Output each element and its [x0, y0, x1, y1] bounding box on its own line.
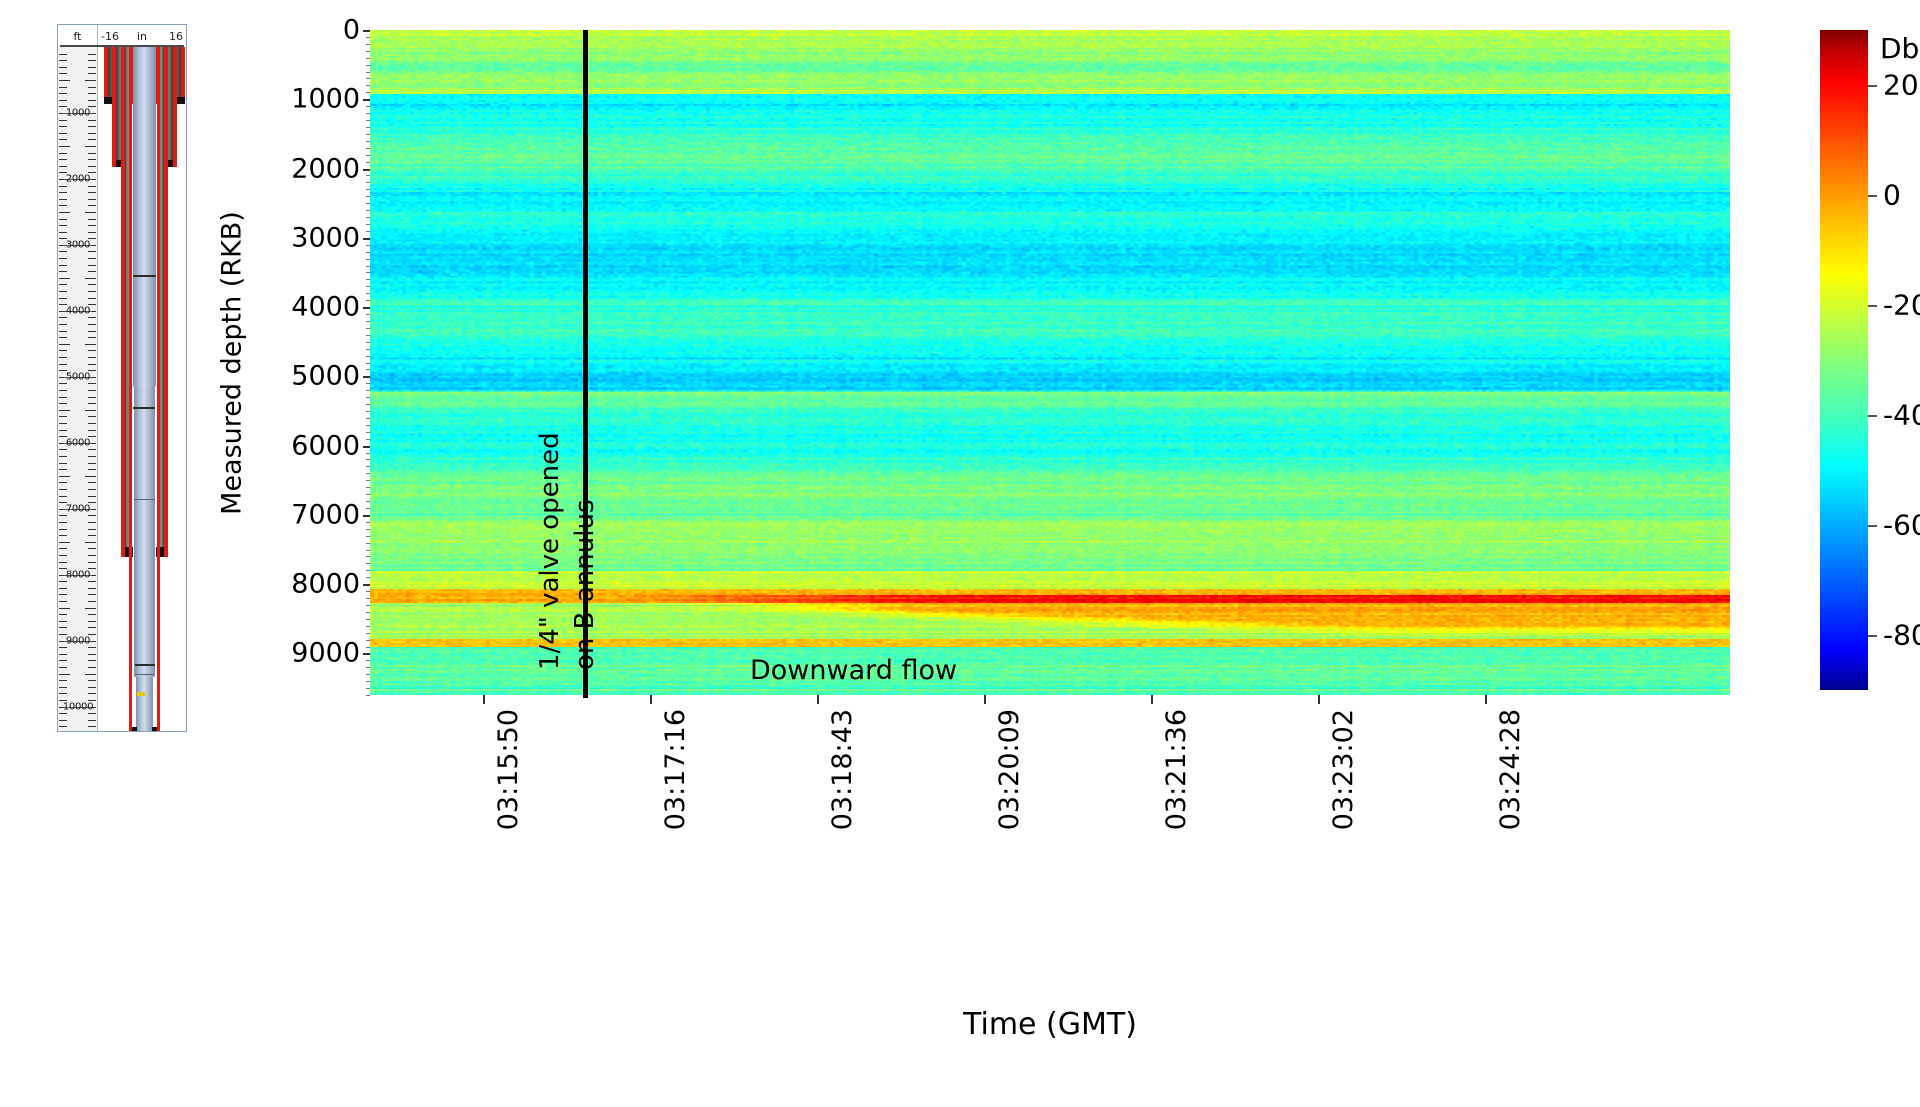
conductor-shoe-right: [177, 97, 185, 104]
x-axis-tick-label: 03:21:36: [1161, 709, 1192, 830]
well-panel-header: ft -16 in 16: [58, 25, 186, 47]
depth-scale-label: 7000: [58, 503, 98, 514]
conductor-shoe-left: [104, 97, 112, 104]
well-depth-scale: 1000200030004000500060007000800090001000…: [58, 47, 98, 731]
conductor-casing-red-right: [181, 47, 185, 104]
x-axis-tick-label: 03:17:16: [660, 709, 691, 830]
y-axis-tick: [363, 169, 370, 171]
depth-scale-label: 10000: [58, 701, 98, 712]
colorbar-tick-label: -60: [1883, 509, 1920, 542]
y-axis-tick: [363, 446, 370, 448]
x-axis-tick-label: 03:23:02: [1328, 709, 1359, 830]
depth-scale-label: 2000: [58, 173, 98, 184]
y-axis: 0100020003000400050006000700080009000: [338, 30, 370, 695]
tubing-joint-5200: [133, 407, 155, 409]
x-axis-tick: [817, 695, 819, 704]
x-axis-title: Time (GMT): [963, 1007, 1137, 1042]
x-axis-tick: [984, 695, 986, 704]
y-axis-tick: [363, 307, 370, 309]
colorbar-tick-label: 0: [1883, 179, 1901, 212]
y-axis-tick: [363, 238, 370, 240]
depth-scale-label: 8000: [58, 569, 98, 580]
production-tubing-upper: [133, 47, 156, 387]
x-axis-tick: [650, 695, 652, 704]
depth-unit-header: ft: [58, 25, 98, 47]
colorbar-tick: [1868, 415, 1877, 417]
x-axis-tick-label: 03:24:28: [1495, 709, 1526, 830]
y-axis-tick-label: 3000: [291, 222, 360, 253]
y-axis-tick: [363, 376, 370, 378]
colorbar-tick: [1868, 85, 1877, 87]
colorbar-tick: [1868, 635, 1877, 637]
y-axis-tick-label: 0: [343, 15, 360, 46]
diameter-unit-label: in: [98, 30, 186, 43]
well-schematic-panel: ft -16 in 16 100020003000400050006000700…: [57, 24, 187, 732]
colorbar-tick: [1868, 195, 1877, 197]
production-tubing-lower: [136, 677, 153, 731]
y-axis-tick-label: 9000: [291, 638, 360, 669]
colorbar-tick-label: 20: [1883, 69, 1919, 102]
depth-scale-label: 1000: [58, 107, 98, 118]
depth-scale-label: 9000: [58, 635, 98, 646]
y-axis-tick: [363, 653, 370, 655]
completion-plug: [137, 692, 145, 696]
y-axis-tick-label: 2000: [291, 153, 360, 184]
valve-annotation-line2: on B-annulus: [570, 500, 600, 671]
x-axis: 03:15:5003:17:1603:18:4303:20:0903:21:36…: [370, 695, 1730, 725]
x-axis-tick: [1151, 695, 1153, 704]
y-axis-tick: [363, 30, 370, 32]
y-axis-tick-label: 1000: [291, 84, 360, 115]
tubing-joint-8150: [135, 674, 154, 675]
production-casing-red-left: [129, 47, 132, 731]
y-axis-tick: [363, 515, 370, 517]
diameter-header: -16 in 16: [98, 25, 186, 47]
depth-scale-label: 3000: [58, 239, 98, 250]
packer-right: [152, 727, 157, 731]
x-axis-tick-label: 03:18:43: [827, 709, 858, 830]
depth-scale-label: 4000: [58, 305, 98, 316]
colorbar-title: Db: [1880, 32, 1919, 65]
colorbar-tick: [1868, 525, 1877, 527]
well-diagram-graphic: [99, 47, 186, 731]
packer-left: [132, 727, 137, 731]
tubing-joint-3200: [133, 275, 156, 277]
y-axis-tick: [363, 99, 370, 101]
colorbar-tick: [1868, 305, 1877, 307]
valve-annotation-line1: 1/4" valve opened: [535, 432, 565, 670]
x-axis-tick: [483, 695, 485, 704]
y-axis-tick: [363, 584, 370, 586]
depth-scale-label: 5000: [58, 371, 98, 382]
colorbar-tick-label: -40: [1883, 399, 1920, 432]
y-axis-title: Measured depth (RKB): [217, 211, 248, 515]
colorbar-tick-label: -20: [1883, 289, 1920, 322]
downward-flow-label: Downward flow: [750, 655, 957, 686]
y-axis-tick-label: 8000: [291, 569, 360, 600]
colorbar: Db 200-20-40-60-80: [1820, 30, 1920, 720]
x-axis-tick: [1318, 695, 1320, 704]
colorbar-tick-label: -80: [1883, 619, 1920, 652]
production-tubing-mid: [134, 387, 155, 677]
tubing-joint-6800: [134, 499, 155, 500]
depth-scale-label: 6000: [58, 437, 98, 448]
intermediate-casing-red-right: [164, 47, 168, 557]
x-axis-tick-label: 03:20:09: [994, 709, 1025, 830]
y-axis-tick-label: 4000: [291, 292, 360, 323]
y-axis-tick-label: 6000: [291, 430, 360, 461]
x-axis-tick-label: 03:15:50: [493, 709, 524, 830]
tubing-joint-8000: [135, 664, 155, 666]
surface-casing-red-right: [173, 47, 177, 167]
colorbar-gradient: [1820, 30, 1868, 690]
x-axis-tick: [1485, 695, 1487, 704]
production-casing-red-right: [157, 47, 160, 731]
y-axis-tick-label: 7000: [291, 499, 360, 530]
y-axis-tick-label: 5000: [291, 361, 360, 392]
